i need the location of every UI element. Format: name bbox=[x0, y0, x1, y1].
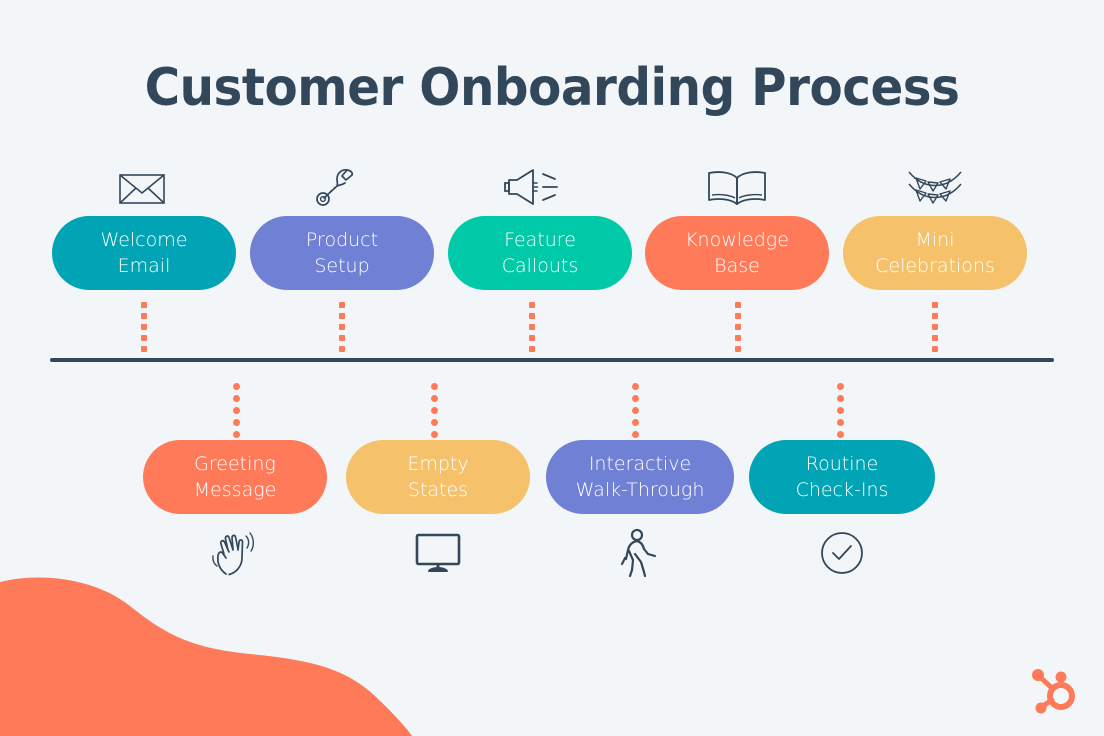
walking-person-icon bbox=[617, 528, 661, 578]
connector-dots-interactive-walk-through bbox=[632, 383, 639, 438]
pill-product-setup[interactable]: Product Setup bbox=[250, 216, 434, 290]
connector-dots-mini-celebrations bbox=[932, 302, 938, 352]
pill-label-line2: Setup bbox=[314, 253, 369, 279]
megaphone-icon bbox=[503, 168, 561, 208]
pill-label-line1: Greeting bbox=[194, 451, 276, 477]
connector-dots-knowledge-base bbox=[735, 302, 741, 352]
infographic-canvas: Customer Onboarding Process Welcome Emai… bbox=[0, 0, 1104, 736]
connector-dots-feature-callouts bbox=[529, 302, 535, 352]
pill-label-line1: Knowledge bbox=[685, 227, 789, 253]
pill-mini-celebrations[interactable]: Mini Celebrations bbox=[843, 216, 1027, 290]
check-circle-icon bbox=[819, 530, 865, 576]
monitor-icon bbox=[414, 532, 462, 574]
pill-label-line2: Check-Ins bbox=[796, 477, 889, 503]
pill-label-line2: Email bbox=[118, 253, 171, 279]
pill-label-line1: Empty bbox=[407, 451, 468, 477]
pill-label-line1: Interactive bbox=[589, 451, 691, 477]
pill-feature-callouts[interactable]: Feature Callouts bbox=[448, 216, 632, 290]
pill-label-line2: Message bbox=[194, 477, 277, 503]
pill-label-line1: Product bbox=[306, 227, 378, 253]
pill-label-line2: States bbox=[408, 477, 468, 503]
pill-interactive-walk-through[interactable]: Interactive Walk-Through bbox=[546, 440, 734, 514]
connector-dots-product-setup bbox=[339, 302, 345, 352]
pill-routine-check-ins[interactable]: Routine Check-Ins bbox=[749, 440, 935, 514]
hubspot-logo bbox=[1028, 663, 1084, 719]
open-book-icon bbox=[706, 170, 768, 206]
bunting-flags-icon bbox=[906, 168, 964, 210]
waving-hand-icon bbox=[212, 530, 256, 576]
connector-dots-empty-states bbox=[431, 383, 438, 438]
pill-greeting-message[interactable]: Greeting Message bbox=[143, 440, 327, 514]
decorative-blob bbox=[0, 560, 440, 736]
pill-welcome-email[interactable]: Welcome Email bbox=[52, 216, 236, 290]
pill-label-line2: Callouts bbox=[502, 253, 578, 279]
wrench-icon bbox=[312, 166, 356, 210]
pill-label-line1: Welcome bbox=[101, 227, 188, 253]
pill-label-line2: Base bbox=[714, 253, 760, 279]
connector-dots-welcome-email bbox=[141, 302, 147, 352]
pill-label-line2: Celebrations bbox=[875, 253, 995, 279]
envelope-icon bbox=[118, 170, 166, 206]
page-title: Customer Onboarding Process bbox=[39, 58, 1066, 118]
pill-label-line1: Feature bbox=[504, 227, 576, 253]
pill-label-line1: Routine bbox=[806, 451, 878, 477]
connector-dots-routine-check-ins bbox=[837, 383, 844, 438]
pill-knowledge-base[interactable]: Knowledge Base bbox=[645, 216, 829, 290]
connector-dots-greeting-message bbox=[233, 383, 240, 438]
pill-empty-states[interactable]: Empty States bbox=[346, 440, 530, 514]
pill-label-line1: Mini bbox=[916, 227, 955, 253]
pill-label-line2: Walk-Through bbox=[576, 477, 705, 503]
timeline-divider bbox=[50, 358, 1054, 362]
